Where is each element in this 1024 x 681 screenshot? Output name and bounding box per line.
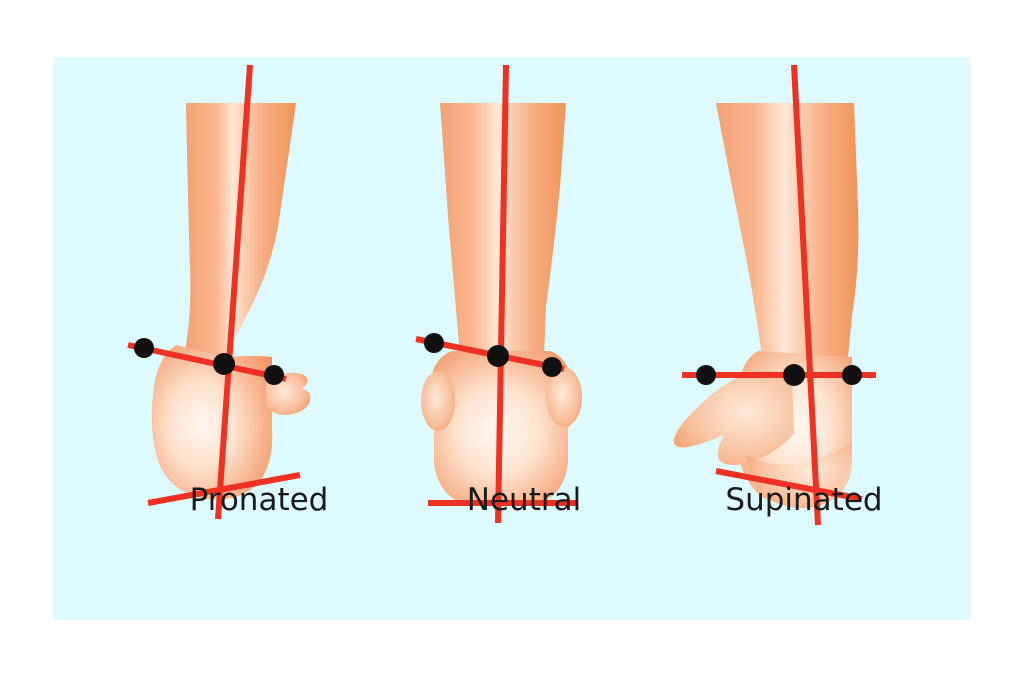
- figure-supinated: Supinated: [654, 57, 954, 620]
- diagram-panel: Pronated: [54, 57, 970, 620]
- figure-neutral: Neutral: [394, 57, 654, 620]
- supinated-center-marker: [783, 364, 805, 386]
- neutral-medial-malleolus-marker: [424, 333, 444, 353]
- pronated-lateral-malleolus-marker: [264, 365, 284, 385]
- supinated-medial-malleolus-marker: [696, 365, 716, 385]
- caption-neutral: Neutral: [394, 482, 654, 518]
- neutral-lateral-malleolus-marker: [542, 357, 562, 377]
- supinated-lateral-malleolus-marker: [842, 365, 862, 385]
- caption-supinated: Supinated: [654, 482, 954, 518]
- figure-pronated: Pronated: [114, 57, 404, 620]
- pronated-anatomy-svg: [114, 57, 404, 537]
- neutral-center-marker: [487, 345, 509, 367]
- pronated-medial-malleolus-marker: [134, 338, 154, 358]
- pronated-center-marker: [213, 353, 235, 375]
- caption-pronated: Pronated: [114, 482, 404, 518]
- supinated-anatomy-svg: [654, 57, 954, 537]
- supinated-leg-shape: [674, 103, 859, 508]
- neutral-anatomy-svg: [394, 57, 654, 537]
- illustration-canvas: Pronated: [0, 0, 1024, 681]
